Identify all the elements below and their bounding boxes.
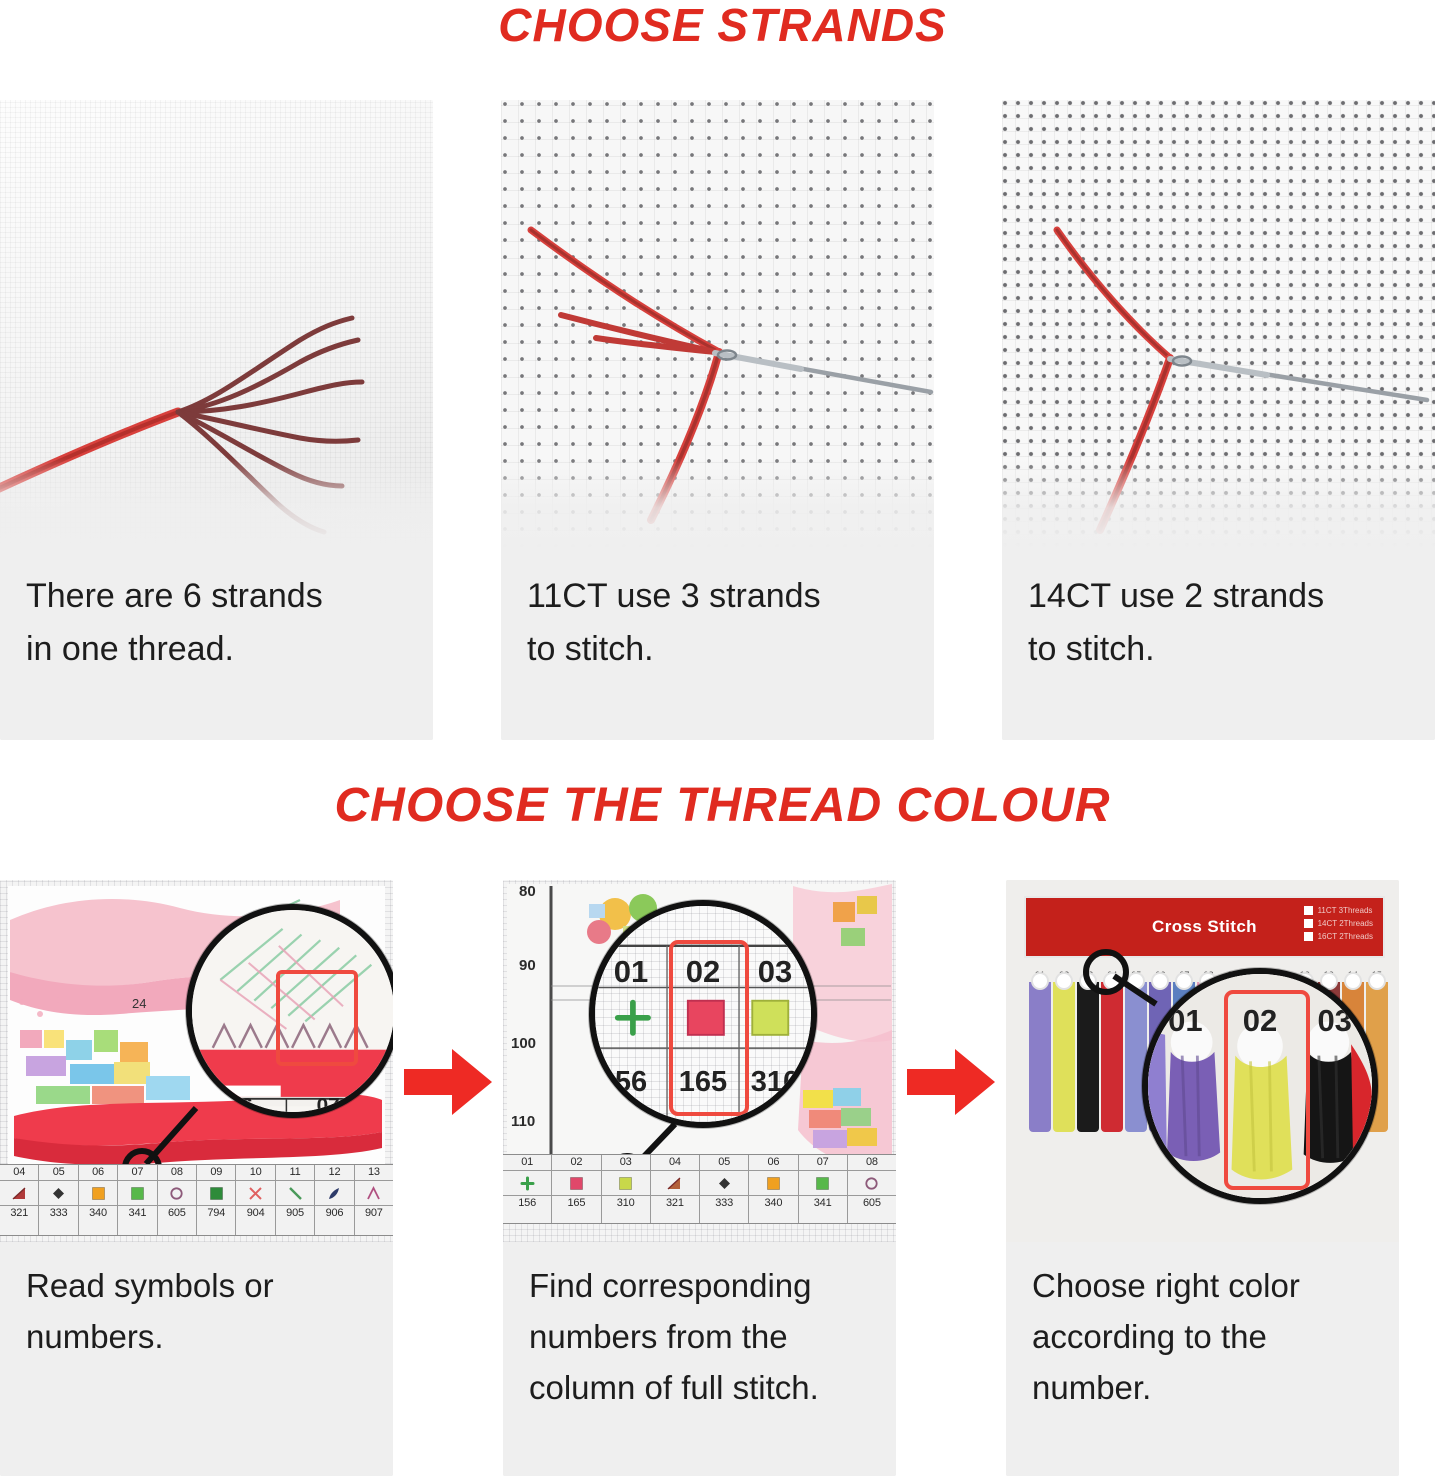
photo-fade — [0, 458, 433, 548]
symbol-legend-table: 0432105333063400734108605097941090411905… — [0, 1164, 393, 1236]
legend-column: 04321 — [651, 1155, 700, 1223]
card-read-symbols: 24 02 — [0, 880, 393, 1476]
yellow-green-square-icon — [617, 1175, 634, 1192]
diamond-dot-icon — [716, 1175, 733, 1192]
legend-column: 04321 — [0, 1165, 39, 1235]
legend-thread-code: 605 — [168, 1206, 186, 1221]
legend-number: 02 — [570, 1155, 582, 1170]
axis-label-100: 100 — [511, 1035, 536, 1052]
lens-highlight-box — [669, 940, 749, 1116]
legend-thread-code: 156 — [518, 1196, 536, 1211]
orange-square-icon — [90, 1185, 107, 1202]
legend-number: 07 — [817, 1155, 829, 1170]
legend-symbol-cell — [158, 1180, 196, 1206]
checkbox-icon[interactable] — [1304, 906, 1313, 915]
lens-cell-left-label: 6 — [241, 1094, 253, 1112]
photo-fade — [501, 458, 934, 548]
red-cross-icon — [247, 1185, 264, 1202]
green-plus-icon — [519, 1175, 536, 1192]
caption-line-2: according to the — [1032, 1311, 1373, 1362]
legend-thread-code: 340 — [764, 1196, 782, 1211]
legend-thread-code: 165 — [567, 1196, 585, 1211]
right-arrow-icon-1 — [402, 1045, 494, 1124]
arrow-gap-2 — [896, 880, 1006, 1476]
legend-thread-code: 605 — [863, 1196, 881, 1211]
triangle-flag-icon — [11, 1185, 28, 1202]
legend-number: 13 — [368, 1165, 380, 1180]
caption-choose-color: Choose right color according to the numb… — [1006, 1242, 1399, 1476]
thread-colour-card-row: 24 02 — [0, 880, 1445, 1476]
legend-symbol-cell — [355, 1180, 393, 1206]
legend-thread-code: 310 — [617, 1196, 635, 1211]
caption-find-numbers: Find corresponding numbers from the colu… — [503, 1242, 896, 1476]
caption-line-2: to stitch. — [1028, 623, 1409, 676]
legend-symbol-cell — [602, 1170, 650, 1196]
legend-symbol-cell — [749, 1170, 797, 1196]
infographic-page: CHOOSE STRANDS — [0, 0, 1445, 1476]
thread-box-title: Cross Stitch — [1152, 917, 1257, 937]
lens-code-310: 310 — [751, 1066, 799, 1099]
legend-thread-code: 333 — [50, 1206, 68, 1221]
legend-thread-code: 321 — [10, 1206, 28, 1221]
legend-column: 03310 — [602, 1155, 651, 1223]
caption-line-1: 11CT use 3 strands — [527, 570, 908, 623]
lens-highlight-box — [276, 970, 358, 1066]
legend-symbol-cell — [276, 1180, 314, 1206]
caption-11ct: 11CT use 3 strands to stitch. — [501, 548, 934, 740]
thread-box-option: 14CT 2Threads — [1304, 919, 1373, 928]
card-six-strands: There are 6 strands in one thread. — [0, 100, 433, 740]
svg-text:24: 24 — [132, 996, 146, 1011]
legend-thread-code: 905 — [286, 1206, 304, 1221]
legend-symbol-cell — [651, 1170, 699, 1196]
green-square-icon — [814, 1175, 831, 1192]
card-11ct: 11CT use 3 strands to stitch. — [501, 100, 934, 740]
legend-thread-code: 794 — [207, 1206, 225, 1221]
option-label-2: 16CT 2Threads — [1318, 932, 1373, 941]
thread-skein — [1101, 982, 1123, 1132]
legend-column: 06340 — [79, 1165, 118, 1235]
caption-line-1: Find corresponding — [529, 1260, 870, 1311]
legend-column: 09794 — [197, 1165, 236, 1235]
card-choose-color: Cross Stitch 11CT 3Threads 14CT 2Threads — [1006, 880, 1399, 1476]
legend-number: 12 — [329, 1165, 341, 1180]
legend-symbol-cell — [799, 1170, 847, 1196]
caption-line-2: numbers from the — [529, 1311, 870, 1362]
arrow-gap-1 — [393, 880, 503, 1476]
row-gap — [433, 100, 501, 740]
orange-square-icon — [765, 1175, 782, 1192]
legend-column: 05333 — [700, 1155, 749, 1223]
leaf-shape-icon — [326, 1185, 343, 1202]
legend-symbol-cell — [236, 1180, 274, 1206]
legend-symbol-cell — [503, 1170, 551, 1196]
thread-skein — [1053, 982, 1075, 1132]
right-arrow-icon-2 — [905, 1045, 997, 1124]
thread-box-header: Cross Stitch 11CT 3Threads 14CT 2Threads — [1024, 896, 1385, 958]
option-label-0: 11CT 3Threads — [1318, 906, 1373, 915]
magnifier-lens-numbers: 01 02 03 56 165 310 — [589, 900, 817, 1128]
legend-number: 10 — [250, 1165, 262, 1180]
photo-thread-box: Cross Stitch 11CT 3Threads 14CT 2Threads — [1006, 880, 1399, 1242]
thread-skein — [1077, 982, 1099, 1132]
legend-number: 04 — [13, 1165, 25, 1180]
page-title-choose-strands: CHOOSE STRANDS — [0, 0, 1445, 52]
axis-label-80: 80 — [519, 883, 536, 900]
caption-line-3: column of full stitch. — [529, 1362, 870, 1413]
thread-box-options: 11CT 3Threads 14CT 2Threads 16CT 2Thread… — [1304, 906, 1373, 941]
open-circle-icon — [168, 1185, 185, 1202]
lens-top-01: 01 — [614, 954, 648, 990]
legend-column: 07341 — [118, 1165, 157, 1235]
diamond-dot-icon — [50, 1185, 67, 1202]
caption-14ct: 14CT use 2 strands to stitch. — [1002, 548, 1435, 740]
right-arrow-icon — [402, 1045, 494, 1119]
lens-cell-right-label: 07 — [317, 1094, 340, 1112]
legend-column: 11905 — [276, 1165, 315, 1235]
green-square-icon — [129, 1185, 146, 1202]
photo-fade — [1002, 458, 1435, 548]
legend-number: 04 — [669, 1155, 681, 1170]
checkbox-icon[interactable] — [1304, 932, 1313, 941]
legend-column: 05333 — [39, 1165, 78, 1235]
open-circle-icon — [863, 1175, 880, 1192]
thread-hanger: 01 — [1028, 970, 1052, 1132]
legend-thread-code: 907 — [365, 1206, 383, 1221]
card-14ct: 14CT use 2 strands to stitch. — [1002, 100, 1435, 740]
legend-number: 11 — [290, 1165, 301, 1180]
back-slash-icon — [287, 1185, 304, 1202]
legend-thread-code: 341 — [129, 1206, 147, 1221]
lens-thread-01: 01 — [1168, 1003, 1202, 1039]
legend-column: 12906 — [315, 1165, 354, 1235]
legend-column: 08605 — [848, 1155, 896, 1223]
legend-thread-code: 340 — [89, 1206, 107, 1221]
legend-symbol-cell — [700, 1170, 748, 1196]
legend-thread-code: 904 — [247, 1206, 265, 1221]
photo-14ct — [1002, 100, 1435, 548]
triangle-flag-icon — [666, 1175, 683, 1192]
legend-column: 07341 — [799, 1155, 848, 1223]
legend-number: 08 — [866, 1155, 878, 1170]
lens-highlight-box — [1224, 990, 1310, 1190]
thread-box-option: 16CT 2Threads — [1304, 932, 1373, 941]
caption-line-2: in one thread. — [26, 623, 407, 676]
caption-six-strands: There are 6 strands in one thread. — [0, 548, 433, 740]
legend-number: 05 — [53, 1165, 65, 1180]
legend-column: 06340 — [749, 1155, 798, 1223]
legend-number: 08 — [171, 1165, 183, 1180]
thread-hanger: 04 — [1100, 970, 1124, 1132]
legend-symbol-cell — [315, 1180, 353, 1206]
legend-column: 13907 — [355, 1165, 393, 1235]
legend-symbol-cell — [118, 1180, 156, 1206]
caret-shape-icon — [365, 1185, 382, 1202]
legend-column: 08605 — [158, 1165, 197, 1235]
caption-line-2: numbers. — [26, 1311, 367, 1362]
legend-number: 06 — [767, 1155, 779, 1170]
legend-thread-code: 333 — [715, 1196, 733, 1211]
caption-line-2: to stitch. — [527, 623, 908, 676]
legend-symbol-cell — [79, 1180, 117, 1206]
caption-line-3: number. — [1032, 1362, 1373, 1413]
card-find-numbers: 80 90 100 110 — [503, 880, 896, 1476]
legend-symbol-cell — [552, 1170, 600, 1196]
legend-thread-code: 906 — [326, 1206, 344, 1221]
magnifier-lens-symbols: 6 07 — [186, 904, 393, 1118]
legend-thread-code: 321 — [666, 1196, 684, 1211]
checkbox-icon[interactable] — [1304, 919, 1313, 928]
page-title-choose-thread-colour: CHOOSE THE THREAD COLOUR — [0, 778, 1445, 833]
legend-symbol-cell — [39, 1180, 77, 1206]
legend-column: 10904 — [236, 1165, 275, 1235]
photo-pattern-chart: 24 02 — [0, 880, 393, 1242]
legend-number: 05 — [718, 1155, 730, 1170]
legend-column: 01156 — [503, 1155, 552, 1223]
thread-hanger: 03 — [1076, 970, 1100, 1132]
legend-number: 06 — [92, 1165, 104, 1180]
caption-line-1: Read symbols or — [26, 1260, 367, 1311]
caption-read-symbols: Read symbols or numbers. — [0, 1242, 393, 1476]
legend-number: 07 — [132, 1165, 144, 1180]
legend-thread-code: 341 — [814, 1196, 832, 1211]
legend-number: 09 — [210, 1165, 222, 1180]
legend-number: 01 — [521, 1155, 533, 1170]
legend-symbol-cell — [848, 1170, 896, 1196]
dark-green-square-icon — [208, 1185, 225, 1202]
right-arrow-icon — [905, 1045, 997, 1119]
legend-column: 02165 — [552, 1155, 601, 1223]
photo-number-chart: 80 90 100 110 — [503, 880, 896, 1242]
caption-line-1: There are 6 strands — [26, 570, 407, 623]
thread-box-option: 11CT 3Threads — [1304, 906, 1373, 915]
legend-symbol-cell — [0, 1180, 38, 1206]
lens-thread-03: 03 — [1317, 1003, 1351, 1039]
magnifier-lens-threads: 01 02 03 — [1142, 968, 1378, 1204]
photo-11ct — [501, 100, 934, 548]
thread-skein — [1029, 982, 1051, 1132]
option-label-1: 14CT 2Threads — [1318, 919, 1373, 928]
number-legend-table: 0115602165033100432105333063400734108605 — [503, 1154, 896, 1224]
legend-symbol-cell — [197, 1180, 235, 1206]
axis-label-110: 110 — [511, 1113, 535, 1130]
pink-square-icon — [568, 1175, 585, 1192]
axis-label-90: 90 — [519, 957, 536, 974]
strands-card-row: There are 6 strands in one thread. — [0, 100, 1445, 740]
lens-top-03: 03 — [758, 954, 792, 990]
legend-number: 03 — [620, 1155, 632, 1170]
photo-six-strands — [0, 100, 433, 548]
caption-line-1: 14CT use 2 strands — [1028, 570, 1409, 623]
row-gap — [934, 100, 1002, 740]
thread-hanger: 02 — [1052, 970, 1076, 1132]
caption-line-1: Choose right color — [1032, 1260, 1373, 1311]
lens-code-56: 56 — [615, 1066, 647, 1099]
